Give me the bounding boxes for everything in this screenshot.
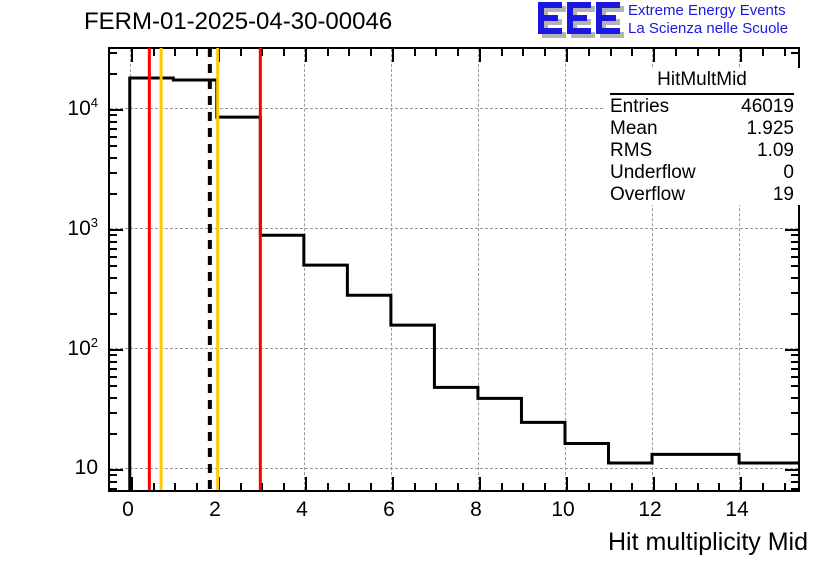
stats-key-overflow: Overflow xyxy=(610,184,685,205)
stats-title: HitMultMid xyxy=(610,68,794,95)
stats-row-rms: RMS 1.09 xyxy=(604,139,800,161)
stats-row-overflow: Overflow 19 xyxy=(604,183,800,205)
stats-value-rms: 1.09 xyxy=(757,140,794,161)
stats-value-entries: 46019 xyxy=(741,96,794,117)
histogram-canvas: FERM-01-2025-04-30-00046 xyxy=(0,0,836,572)
stats-row-underflow: Underflow 0 xyxy=(604,161,800,183)
stats-key-underflow: Underflow xyxy=(610,162,696,183)
stats-key-entries: Entries xyxy=(610,96,669,117)
stats-key-rms: RMS xyxy=(610,140,652,161)
stats-value-underflow: 0 xyxy=(783,162,794,183)
stats-row-entries: Entries 46019 xyxy=(604,95,800,117)
stats-value-mean: 1.925 xyxy=(746,118,794,139)
stats-key-mean: Mean xyxy=(610,118,658,139)
stats-value-overflow: 19 xyxy=(773,184,794,205)
stats-row-mean: Mean 1.925 xyxy=(604,117,800,139)
stats-box: HitMultMid Entries 46019 Mean 1.925 RMS … xyxy=(604,68,800,205)
